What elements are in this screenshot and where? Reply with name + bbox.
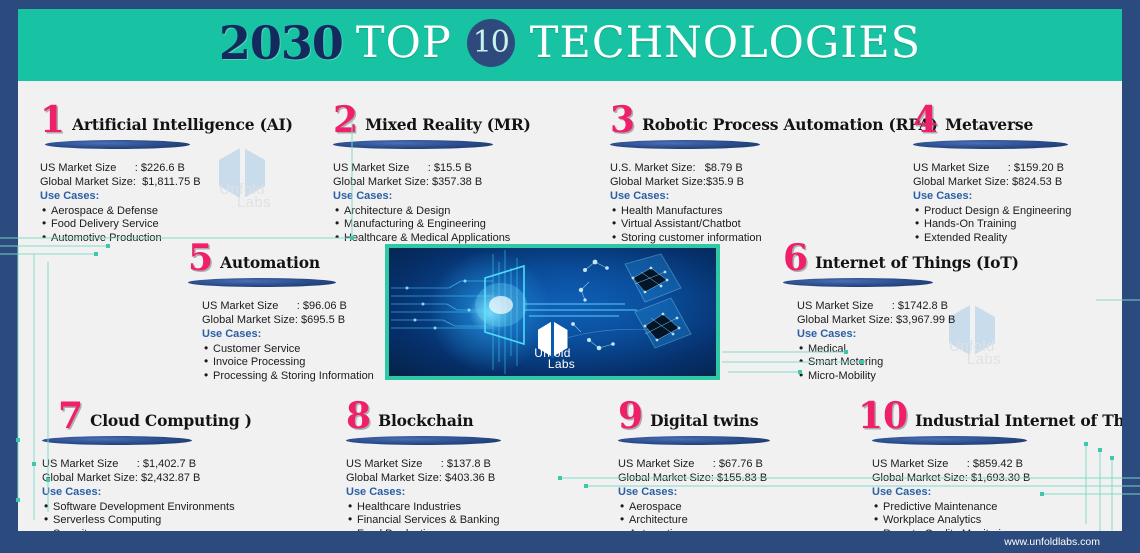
poster-canvas: 2030 TOP 10 TECHNOLOGIES Unfold Labs — [18, 9, 1122, 531]
item-2-global-market: Global Market Size: $357.38 B — [333, 176, 623, 190]
tech-item-3: 3 Robotic Process Automation (RPA) U.S. … — [610, 101, 910, 246]
item-9-number: 9 — [618, 401, 643, 431]
item-8-heading: 8 Blockchain — [346, 397, 626, 431]
list-item: Architecture — [618, 514, 878, 528]
item-1-number: 1 — [40, 105, 65, 135]
item-6-facts: US Market Size : $1742.8 B Global Market… — [797, 300, 1063, 384]
item-9-usecases-list: Aerospace Architecture Automotive — [618, 501, 878, 531]
list-item: Health Manufactures — [610, 205, 910, 219]
infographic-poster: 2030 TOP 10 TECHNOLOGIES Unfold Labs — [0, 0, 1140, 553]
tech-item-7: 7 Cloud Computing ) US Market Size : $1,… — [58, 397, 338, 531]
item-3-number: 3 — [610, 105, 635, 135]
item-6-usecases-label: Use Cases: — [797, 328, 1063, 342]
item-9-us-market: US Market Size : $67.76 B — [618, 458, 878, 472]
item-10-global-market: Global Market Size: $1,693.30 B — [872, 472, 1122, 486]
header-top-word: TOP — [356, 22, 452, 65]
item-6-title: Internet of Things (IoT) — [815, 254, 1019, 273]
item-4-us-market: US Market Size : $159.20 B — [913, 162, 1122, 176]
item-7-global-market: Global Market Size: $2,432.87 B — [42, 472, 338, 486]
tech-item-1: 1 Artificial Intelligence (AI) US Market… — [40, 101, 340, 246]
item-7-heading: 7 Cloud Computing ) — [58, 397, 338, 431]
list-item: Processing & Storing Information — [202, 370, 448, 384]
list-item: Invoice Processing — [202, 356, 448, 370]
item-8-facts: US Market Size : $137.8 B Global Market … — [346, 458, 626, 531]
tech-item-10: 10 Industrial Internet of Things (IIoT) … — [858, 397, 1122, 531]
item-2-usecases-label: Use Cases: — [333, 190, 623, 204]
item-1-facts: US Market Size : $226.6 B Global Market … — [40, 162, 340, 246]
item-7-number: 7 — [58, 401, 83, 431]
list-item: Food Delivery Service — [40, 218, 340, 232]
item-4-divider — [913, 140, 1068, 149]
item-5-facts: US Market Size : $96.06 B Global Market … — [202, 300, 448, 384]
item-8-global-market: Global Market Size: $403.36 B — [346, 472, 626, 486]
item-6-divider — [783, 278, 933, 287]
item-7-facts: US Market Size : $1,402.7 B Global Marke… — [42, 458, 338, 531]
tech-item-9: 9 Digital twins US Market Size : $67.76 … — [618, 397, 878, 531]
header-technologies-word: TECHNOLOGIES — [530, 22, 921, 65]
unfold-hexagon-icon — [538, 321, 568, 357]
list-item: Predictive Maintenance — [872, 501, 1122, 515]
list-item: Aerospace — [618, 501, 878, 515]
footer-website[interactable]: www.unfoldlabs.com — [1004, 536, 1100, 548]
item-10-usecases-label: Use Cases: — [872, 486, 1122, 500]
tech-item-2: 2 Mixed Reality (MR) US Market Size : $1… — [333, 101, 623, 246]
list-item: Virtual Assistant/Chatbot — [610, 218, 910, 232]
item-9-heading: 9 Digital twins — [618, 397, 878, 431]
item-1-usecases-label: Use Cases: — [40, 190, 340, 204]
item-9-usecases-label: Use Cases: — [618, 486, 878, 500]
item-2-title: Mixed Reality (MR) — [365, 116, 531, 135]
item-2-number: 2 — [333, 105, 358, 135]
item-5-usecases-list: Customer Service Invoice Processing Proc… — [202, 343, 448, 384]
item-6-us-market: US Market Size : $1742.8 B — [797, 300, 1063, 314]
list-item: Software Development Environments — [42, 501, 338, 515]
list-item: Architecture & Design — [333, 205, 623, 219]
item-5-title: Automation — [220, 254, 320, 273]
item-7-divider — [42, 436, 192, 445]
item-1-heading: 1 Artificial Intelligence (AI) — [40, 101, 340, 135]
item-4-heading: 4 Metaverse — [913, 101, 1122, 135]
item-1-divider — [45, 140, 190, 149]
list-item: Manufacturing & Engineering — [333, 218, 623, 232]
item-10-us-market: US Market Size : $859.42 B — [872, 458, 1122, 472]
item-2-us-market: US Market Size : $15.5 B — [333, 162, 623, 176]
item-5-heading: 5 Automation — [188, 239, 448, 273]
item-4-global-market: Global Market Size: $824.53 B — [913, 176, 1122, 190]
item-1-global-market: Global Market Size: $1,811.75 B — [40, 176, 340, 190]
item-8-usecases-list: Healthcare Industries Financial Services… — [346, 501, 626, 531]
header-banner: 2030 TOP 10 TECHNOLOGIES — [18, 9, 1122, 81]
header-title-group: 2030 TOP 10 TECHNOLOGIES — [219, 19, 921, 67]
item-1-us-market: US Market Size : $226.6 B — [40, 162, 340, 176]
item-3-facts: U.S. Market Size: $8.79 B Global Market … — [610, 162, 910, 246]
list-item: Aerospace & Defense — [40, 205, 340, 219]
item-7-us-market: US Market Size : $1,402.7 B — [42, 458, 338, 472]
tech-item-6: 6 Internet of Things (IoT) US Market Siz… — [783, 239, 1063, 384]
item-6-heading: 6 Internet of Things (IoT) — [783, 239, 1063, 273]
item-3-us-market: U.S. Market Size: $8.79 B — [610, 162, 910, 176]
item-9-global-market: Global Market Size: $155.83 B — [618, 472, 878, 486]
list-item: Workplace Analytics — [872, 514, 1122, 528]
item-5-divider — [188, 278, 336, 287]
list-item: Healthcare Industries — [346, 501, 626, 515]
hero-unfoldlabs-logo: Unfold Labs — [518, 321, 588, 370]
item-1-title: Artificial Intelligence (AI) — [72, 116, 293, 135]
item-4-usecases-label: Use Cases: — [913, 190, 1122, 204]
item-3-usecases-label: Use Cases: — [610, 190, 910, 204]
list-item: Serverless Computing — [42, 514, 338, 528]
item-10-facts: US Market Size : $859.42 B Global Market… — [872, 458, 1122, 531]
item-10-divider — [872, 436, 1027, 445]
item-5-number: 5 — [188, 243, 213, 273]
item-8-usecases-label: Use Cases: — [346, 486, 626, 500]
tech-item-5: 5 Automation US Market Size : $96.06 B G… — [188, 239, 448, 384]
list-item: Customer Service — [202, 343, 448, 357]
item-10-usecases-list: Predictive Maintenance Workplace Analyti… — [872, 501, 1122, 531]
list-item: Micro-Mobility — [797, 370, 1063, 384]
item-4-number: 4 — [913, 105, 938, 135]
item-3-global-market: Global Market Size:$35.9 B — [610, 176, 910, 190]
item-8-divider — [346, 436, 501, 445]
item-6-global-market: Global Market Size: $3,967.99 B — [797, 314, 1063, 328]
list-item: Smart Metering — [797, 356, 1063, 370]
hero-logo-line2: Labs — [518, 359, 588, 370]
footer-bar: www.unfoldlabs.com — [0, 531, 1140, 553]
tech-item-4: 4 Metaverse US Market Size : $159.20 B G… — [913, 101, 1122, 246]
item-5-usecases-label: Use Cases: — [202, 328, 448, 342]
header-year: 2030 — [219, 20, 343, 66]
item-9-title: Digital twins — [650, 412, 758, 431]
item-10-number: 10 — [858, 401, 908, 431]
tech-item-8: 8 Blockchain US Market Size : $137.8 B G… — [346, 397, 626, 531]
list-item: Product Design & Engineering — [913, 205, 1122, 219]
item-7-usecases-list: Software Development Environments Server… — [42, 501, 338, 531]
item-4-title: Metaverse — [945, 116, 1033, 135]
item-6-number: 6 — [783, 243, 808, 273]
item-5-global-market: Global Market Size: $695.5 B — [202, 314, 448, 328]
item-8-title: Blockchain — [378, 412, 473, 431]
item-2-divider — [333, 140, 493, 149]
item-2-heading: 2 Mixed Reality (MR) — [333, 101, 623, 135]
item-8-us-market: US Market Size : $137.8 B — [346, 458, 626, 472]
item-3-title: Robotic Process Automation (RPA) — [642, 116, 938, 135]
list-item: Hands-On Training — [913, 218, 1122, 232]
item-2-facts: US Market Size : $15.5 B Global Market S… — [333, 162, 623, 246]
item-10-heading: 10 Industrial Internet of Things (IIoT) — [858, 397, 1122, 431]
item-9-divider — [618, 436, 770, 445]
item-5-us-market: US Market Size : $96.06 B — [202, 300, 448, 314]
header-ten-badge: 10 — [467, 19, 515, 67]
item-8-number: 8 — [346, 401, 371, 431]
header-badge-number: 10 — [473, 28, 509, 58]
list-item: Medical — [797, 343, 1063, 357]
item-7-title: Cloud Computing ) — [90, 412, 252, 431]
item-9-facts: US Market Size : $67.76 B Global Market … — [618, 458, 878, 531]
item-10-title: Industrial Internet of Things (IIoT) — [915, 412, 1122, 431]
item-3-heading: 3 Robotic Process Automation (RPA) — [610, 101, 910, 135]
list-item: Financial Services & Banking — [346, 514, 626, 528]
item-7-usecases-label: Use Cases: — [42, 486, 338, 500]
item-4-facts: US Market Size : $159.20 B Global Market… — [913, 162, 1122, 246]
item-6-usecases-list: Medical Smart Metering Micro-Mobility — [797, 343, 1063, 384]
item-3-divider — [610, 140, 760, 149]
